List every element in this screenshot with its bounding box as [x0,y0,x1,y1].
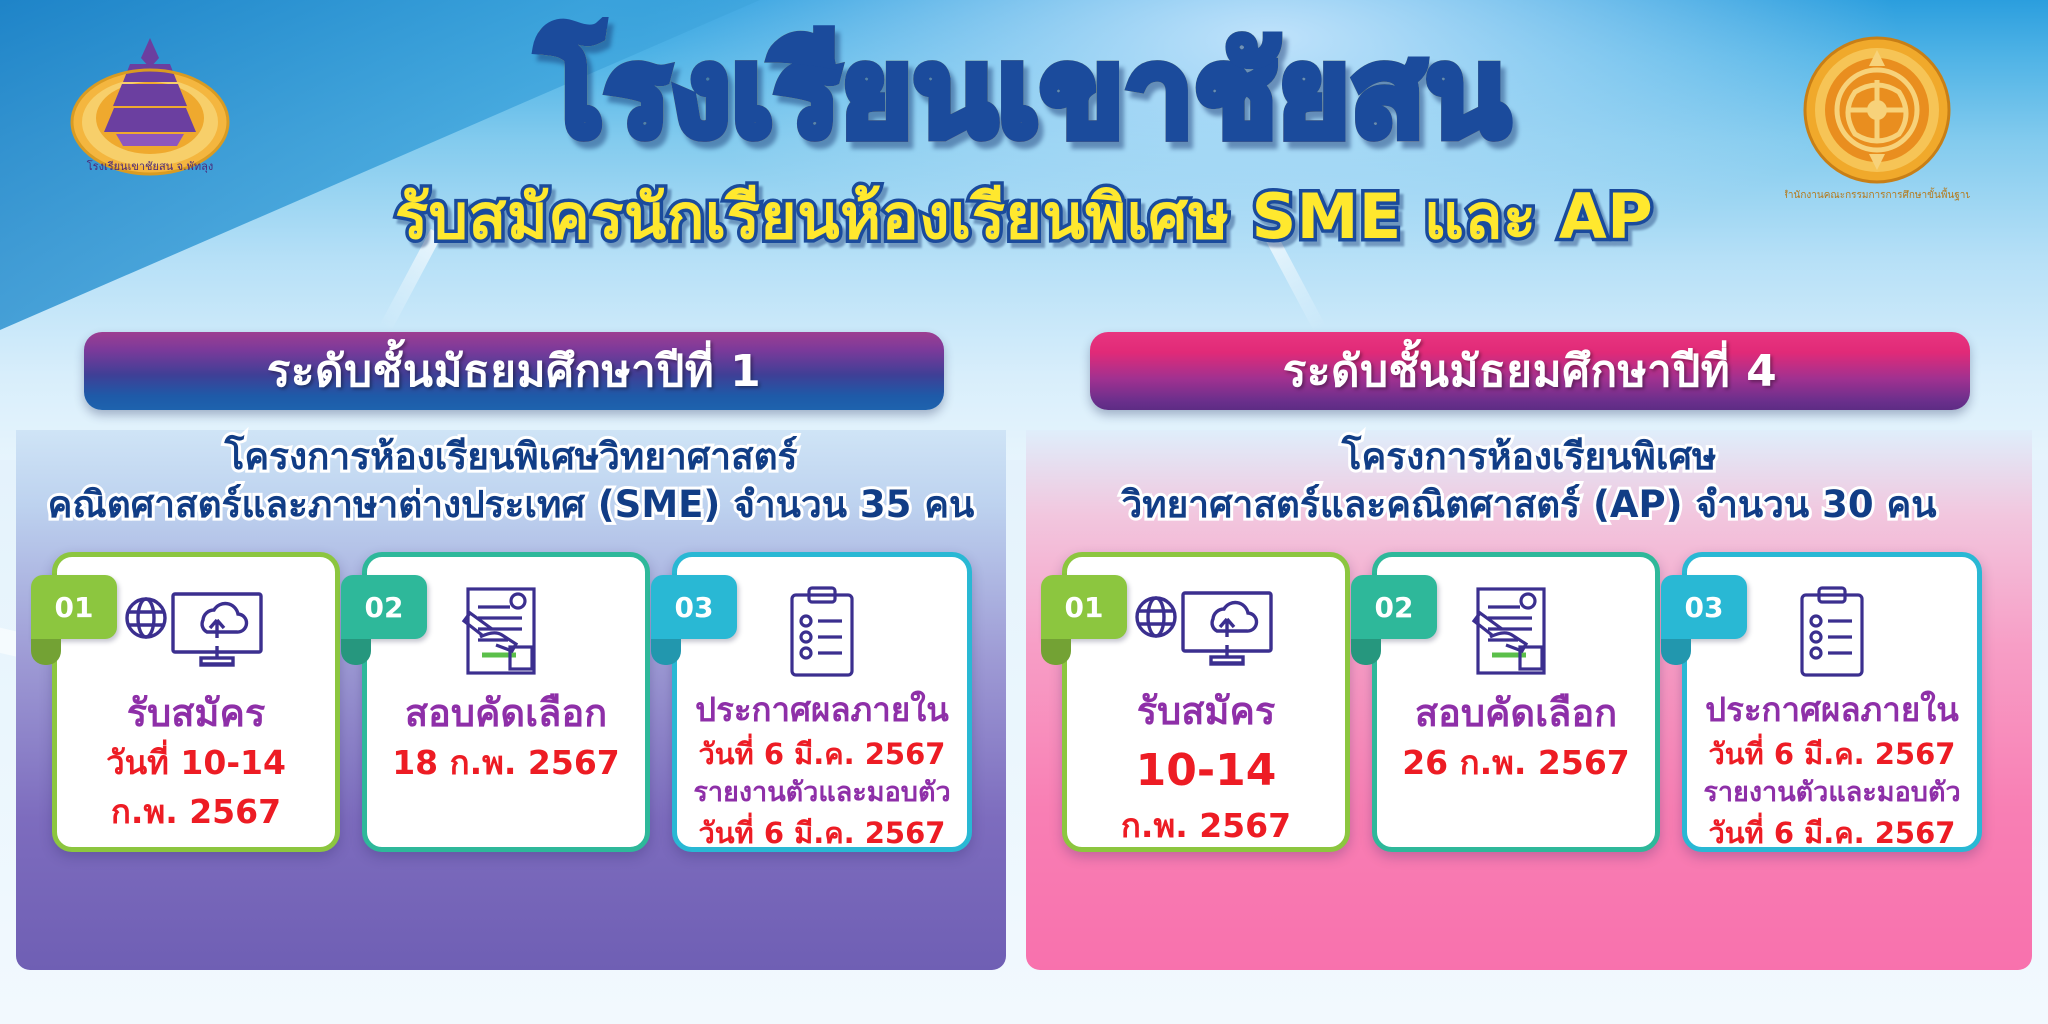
grade-badge-m4-label: ระดับชั้นมัธยมศึกษาปีที่ 4 [1283,336,1778,406]
step-date-line: ก.พ. 2567 [1121,805,1291,848]
program-description-m1: โครงการห้องเรียนพิเศษวิทยาศาสตร์ คณิตศาส… [16,434,1006,527]
step-date-line: 18 ก.พ. 2567 [392,742,620,785]
step-date-line: วันที่ 6 มี.ค. 2567 [1703,815,1960,853]
step-card-text: รับสมัคร วันที่ 10-14 ก.พ. 2567 [98,691,294,834]
grade-badge-m1-label: ระดับชั้นมัธยมศึกษาปีที่ 1 [267,336,762,406]
step-card[interactable]: 01 รับสมัคร 10-14 ก.พ. 2567 [1062,552,1350,852]
step-card-text: ประกาศผลภายใน วันที่ 6 มี.ค. 2567 รายงาน… [685,691,958,853]
program-line-1: โครงการห้องเรียนพิเศษ [1026,434,2032,479]
exam-paper-hand-icon [442,585,570,681]
program-description-m4: โครงการห้องเรียนพิเศษ วิทยาศาสตร์และคณิต… [1026,434,2032,527]
school-name-title: โรงเรียนเขาชัยสน [538,28,1511,160]
step-card-text: สอบคัดเลือก 26 ก.พ. 2567 [1394,691,1638,785]
step-card-text: ประกาศผลภายใน วันที่ 6 มี.ค. 2567 รายงาน… [1695,691,1968,853]
step-date-line: ก.พ. 2567 [106,791,286,834]
results-clipboard-icon [774,585,870,681]
step-card[interactable]: 03 ประกาศผลภายใน วันที่ 6 มี.ค. 2567 ราย… [672,552,972,852]
step-heading: ประกาศผลภายใน [1703,691,1960,730]
step-card[interactable]: 02 สอบคัดเลือก 18 ก.พ. 2567 [362,552,650,852]
step-date-line: 26 ก.พ. 2567 [1402,742,1630,785]
step-card-text: สอบคัดเลือก 18 ก.พ. 2567 [384,691,628,785]
step-number-badge: 03 [651,575,737,639]
step-heading: ประกาศผลภายใน [693,691,950,730]
online-registration-monitor-icon [121,585,271,681]
step-date-line: วันที่ 6 มี.ค. 2567 [693,815,950,853]
step-card[interactable]: 02 สอบคัดเลือก 26 ก.พ. 2567 [1372,552,1660,852]
results-clipboard-icon [1784,585,1880,681]
main-title-container: โรงเรียนเขาชัยสน [0,28,2048,160]
step-date-line: วันที่ 6 มี.ค. 2567 [693,736,950,774]
program-line-2: คณิตศาสตร์และภาษาต่างประเทศ (SME) จำนวน … [16,482,1006,527]
step-card[interactable]: 01 รับสมัคร วันที่ 10-14 ก.พ. 2567 [52,552,340,852]
program-line-2: วิทยาศาสตร์และคณิตศาสตร์ (AP) จำนวน 30 ค… [1026,482,2032,527]
step-date-line: วันที่ 10-14 [106,742,286,785]
grade-badge-m4: ระดับชั้นมัธยมศึกษาปีที่ 4 [1090,332,1970,410]
step-card-text: รับสมัคร 10-14 ก.พ. 2567 [1113,689,1299,848]
step-cards-m4: 01 รับสมัคร 10-14 ก.พ. 2567 02 [1062,552,1982,852]
program-line-1: โครงการห้องเรียนพิเศษวิทยาศาสตร์ [16,434,1006,479]
step-heading: สอบคัดเลือก [392,691,620,736]
step-heading: รับสมัคร [106,691,286,736]
step-number-badge: 01 [1041,575,1127,639]
admission-subtitle: รับสมัครนักเรียนห้องเรียนพิเศษ SME และ A… [395,168,1653,266]
step-heading: รับสมัคร [1121,689,1291,734]
step-number-badge: 02 [341,575,427,639]
step-card[interactable]: 03 ประกาศผลภายใน วันที่ 6 มี.ค. 2567 ราย… [1682,552,1982,852]
step-sub-line: รายงานตัวและมอบตัว [693,776,950,810]
step-heading: สอบคัดเลือก [1402,691,1630,736]
step-number-badge: 03 [1661,575,1747,639]
step-date-line: 10-14 [1121,742,1291,799]
step-number-badge: 02 [1351,575,1437,639]
online-registration-monitor-icon [1131,585,1281,679]
grade-badge-m1: ระดับชั้นมัธยมศึกษาปีที่ 1 [84,332,944,410]
step-sub-line: รายงานตัวและมอบตัว [1703,776,1960,810]
exam-paper-hand-icon [1452,585,1580,681]
subtitle-container: รับสมัครนักเรียนห้องเรียนพิเศษ SME และ A… [0,168,2048,266]
step-number-badge: 01 [31,575,117,639]
step-cards-m1: 01 รับสมัคร วันที่ 10-14 ก.พ. 2567 [52,552,972,852]
step-date-line: วันที่ 6 มี.ค. 2567 [1703,736,1960,774]
